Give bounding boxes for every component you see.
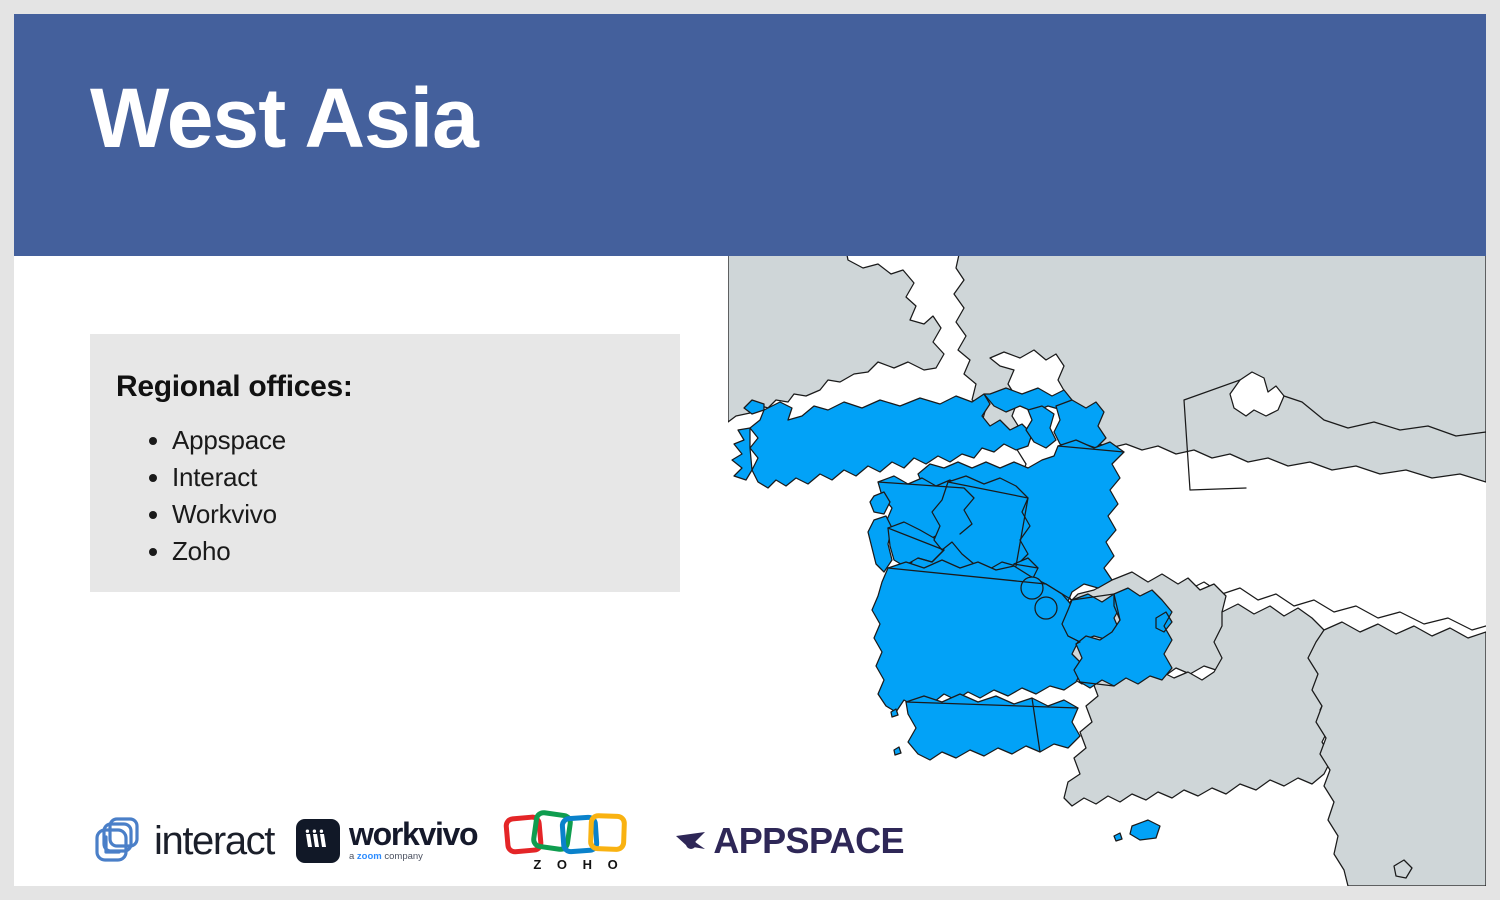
tagline-prefix: a — [349, 851, 357, 862]
page-title: West Asia — [90, 76, 478, 160]
list-item: Appspace — [172, 422, 286, 459]
country-kuwait — [1012, 558, 1038, 580]
country-saudi-arabia — [872, 560, 1084, 712]
country-jordan — [888, 522, 944, 566]
country-india-sri-tip — [1394, 860, 1412, 878]
zoho-wordmark: Z O H O — [533, 857, 623, 872]
interact-wordmark: interact — [154, 819, 274, 864]
water-aral-sea — [1230, 372, 1284, 416]
logo-interact: interact — [90, 814, 274, 868]
country-pakistan — [1064, 604, 1332, 806]
country-russia-east — [960, 250, 1486, 290]
border-central-asia — [1076, 578, 1486, 630]
country-israel — [868, 516, 892, 572]
country-yemen — [906, 694, 1080, 760]
interact-stacked-squares-icon — [90, 814, 144, 868]
logo-zoho: Z O H O — [503, 808, 633, 874]
country-oman — [1074, 588, 1172, 688]
appspace-arrow-icon — [675, 827, 709, 855]
water-caspian-sea — [990, 350, 1076, 630]
regional-offices-panel: Regional offices: Appspace Interact Work… — [90, 334, 680, 592]
list-item: Interact — [172, 459, 286, 496]
country-iran — [896, 440, 1124, 698]
west-asia-map — [728, 250, 1486, 886]
logo-appspace: APPSPACE — [675, 820, 904, 862]
internal-borders — [878, 446, 1124, 752]
workvivo-text-column: workvivo a zoom company — [349, 819, 477, 863]
country-kazakhstan — [954, 250, 1486, 482]
logo-workvivo: workvivo a zoom company — [296, 819, 477, 863]
island-dots — [891, 709, 1122, 841]
header-band: West Asia — [14, 14, 1486, 256]
tagline-suffix: company — [382, 851, 423, 862]
partner-logo-strip: interact workvivo a zoom comp — [90, 804, 904, 878]
country-iraq — [932, 476, 1030, 570]
panel-heading: Regional offices: — [116, 370, 353, 404]
country-qatar-marker — [1035, 597, 1057, 619]
country-syria — [878, 476, 974, 540]
list-item: Workvivo — [172, 496, 286, 533]
country-bahrain-marker — [1021, 577, 1043, 599]
country-armenia — [1026, 406, 1056, 448]
workvivo-wordmark: workvivo — [349, 819, 477, 850]
country-lebanon — [870, 492, 890, 514]
slide-canvas: West Asia Regional offices: Appspace Int… — [14, 14, 1486, 886]
list-item: Zoho — [172, 533, 286, 570]
tagline-brand: zoom — [357, 851, 382, 862]
appspace-wordmark: APPSPACE — [713, 820, 904, 862]
country-azerbaijan — [1054, 400, 1106, 450]
country-russia — [728, 250, 944, 422]
workvivo-tagline: a zoom company — [349, 851, 477, 863]
country-uae — [1062, 594, 1122, 642]
country-india — [1308, 622, 1486, 886]
country-georgia — [984, 388, 1072, 412]
zoho-four-squares-icon — [503, 808, 633, 860]
country-afghanistan — [1064, 572, 1230, 684]
workvivo-w-icon — [296, 819, 340, 863]
turkey-aegean-coast — [732, 428, 752, 480]
island-socotra — [1130, 820, 1160, 840]
aral-region-outline — [1184, 380, 1486, 490]
office-list: Appspace Interact Workvivo Zoho — [134, 422, 286, 570]
country-turkey — [744, 394, 1032, 488]
